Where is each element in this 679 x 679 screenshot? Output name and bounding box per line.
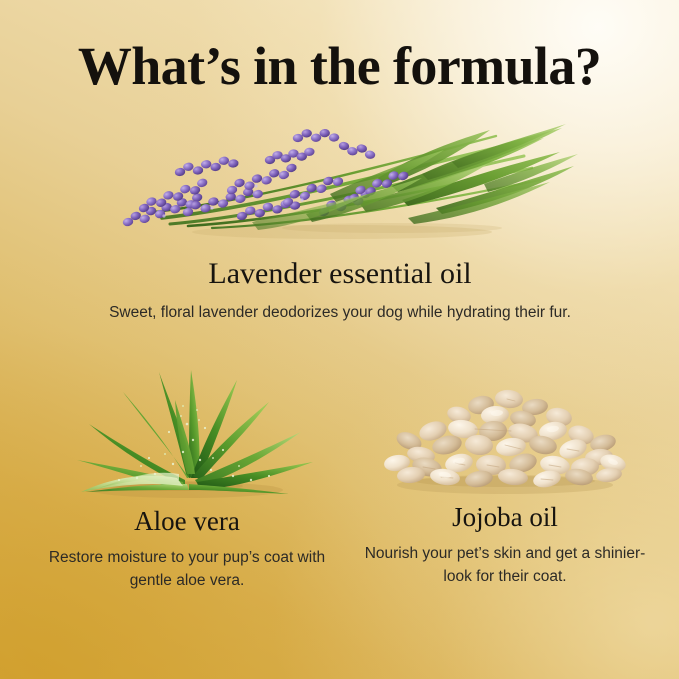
oat-flakes-pile-icon (363, 379, 647, 497)
ingredient-name-lavender: Lavender essential oil (92, 258, 588, 290)
ingredient-name-aloe: Aloe vera (37, 507, 337, 535)
ingredient-card-jojoba: Jojoba oil Nourish your pet’s skin and g… (363, 379, 647, 588)
ingredient-description-jojoba: Nourish your pet’s skin and get a shinie… (363, 543, 647, 588)
lavender-sprigs-icon (92, 116, 588, 244)
ingredient-card-lavender: Lavender essential oil Sweet, floral lav… (92, 116, 588, 324)
ingredient-name-jojoba: Jojoba oil (363, 503, 647, 531)
aloe-vera-plant-icon (37, 366, 337, 499)
ingredient-description-lavender: Sweet, floral lavender deodorizes your d… (92, 302, 588, 324)
page-title: What’s in the formula? (0, 39, 679, 93)
ingredient-description-aloe: Restore moisture to your pup’s coat with… (37, 547, 337, 592)
ingredients-infographic: What’s in the formula? (0, 0, 679, 679)
ingredient-card-aloe: Aloe vera Restore moisture to your pup’s… (37, 366, 337, 592)
